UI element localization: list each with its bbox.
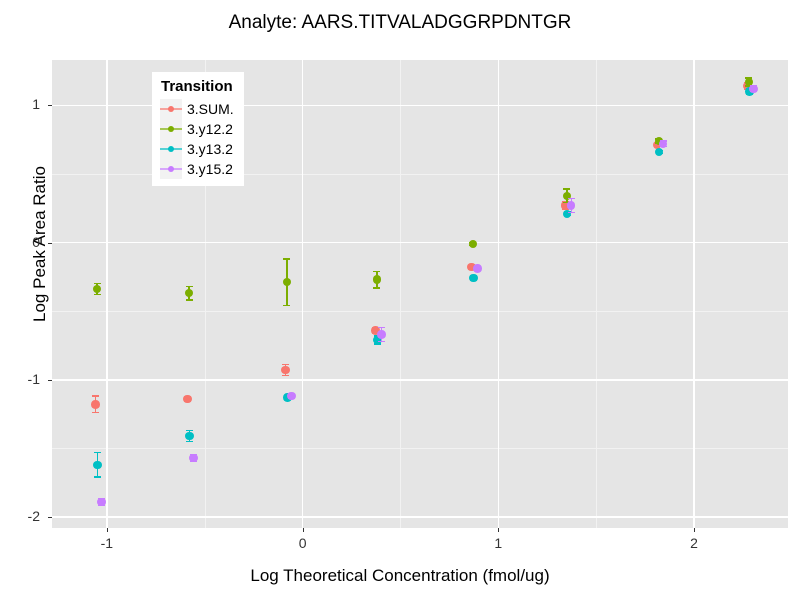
x-axis-tick	[498, 528, 499, 532]
data-point	[287, 392, 295, 400]
error-bar-cap-upper	[563, 188, 570, 190]
legend-item-3-y12-2[interactable]: 3.y12.2	[160, 119, 234, 139]
data-point	[283, 278, 291, 286]
error-bar-cap-upper	[94, 452, 101, 454]
error-bar-cap-lower	[282, 375, 289, 377]
legend-item-3-y15-2[interactable]: 3.y15.2	[160, 159, 234, 179]
x-axis-tick-label: 1	[478, 535, 518, 551]
x-axis-label: Log Theoretical Concentration (fmol/ug)	[0, 566, 800, 586]
x-axis-tick	[694, 528, 695, 532]
x-axis-tick-label: -1	[87, 535, 127, 551]
data-point	[473, 264, 481, 272]
data-point	[93, 285, 101, 293]
gridline-major-horizontal	[52, 516, 788, 518]
error-bar-cap-upper	[378, 327, 385, 329]
data-point	[377, 330, 385, 338]
gridline-minor-horizontal	[52, 311, 788, 312]
gridline-major-vertical	[693, 60, 695, 528]
data-point	[469, 240, 477, 248]
gridline-minor-vertical	[596, 60, 597, 528]
data-point	[91, 400, 99, 408]
error-bar-cap-upper	[568, 198, 575, 200]
error-bar-cap-upper	[283, 258, 290, 260]
legend-item-label: 3.y12.2	[187, 121, 233, 137]
legend-key-icon	[160, 139, 182, 159]
data-point	[183, 395, 191, 403]
gridline-major-vertical	[302, 60, 304, 528]
y-axis-tick	[48, 380, 52, 381]
error-bar-cap-lower	[92, 412, 99, 414]
error-bar-cap-lower	[94, 294, 101, 296]
x-axis-tick	[107, 528, 108, 532]
y-axis-tick	[48, 105, 52, 106]
legend-key-icon	[160, 119, 182, 139]
legend-item-3-sum-[interactable]: 3.SUM.	[160, 99, 234, 119]
legend-item-label: 3.SUM.	[187, 101, 234, 117]
error-bar-cap-lower	[373, 287, 380, 289]
error-bar-cap-lower	[568, 212, 575, 214]
gridline-minor-vertical	[400, 60, 401, 528]
y-axis-tick-label: 0	[0, 234, 40, 250]
legend-title: Transition	[161, 78, 234, 95]
y-axis-tick	[48, 517, 52, 518]
data-point	[97, 498, 105, 506]
error-bar-cap-upper	[186, 286, 193, 288]
error-bar-cap-upper	[373, 271, 380, 273]
data-point	[469, 274, 477, 282]
x-axis-tick	[303, 528, 304, 532]
y-axis-tick-label: -2	[0, 508, 40, 524]
error-bar-cap-lower	[186, 299, 193, 301]
legend-item-3-y13-2[interactable]: 3.y13.2	[160, 139, 234, 159]
y-axis-tick-label: 1	[0, 96, 40, 112]
data-point	[749, 85, 757, 93]
gridline-major-vertical	[106, 60, 108, 528]
error-bar-cap-lower	[378, 341, 385, 343]
data-point	[373, 275, 381, 283]
x-axis-tick-label: 2	[674, 535, 714, 551]
gridline-major-horizontal	[52, 379, 788, 381]
legend-key-icon	[160, 99, 182, 119]
error-bar-cap-lower	[283, 305, 290, 307]
y-axis-tick-label: -1	[0, 371, 40, 387]
data-point	[189, 454, 197, 462]
chart-title: Analyte: AARS.TITVALADGGRPDNTGR	[0, 12, 800, 34]
data-point	[185, 432, 193, 440]
legend-key-icon	[160, 159, 182, 179]
data-point	[655, 148, 663, 156]
y-axis-tick	[48, 243, 52, 244]
gridline-major-vertical	[498, 60, 500, 528]
data-point	[567, 201, 575, 209]
legend: Transition 3.SUM.3.y12.23.y13.23.y15.2	[152, 72, 244, 186]
gridline-major-horizontal	[52, 242, 788, 244]
data-point	[281, 366, 289, 374]
data-point	[185, 289, 193, 297]
error-bar-cap-lower	[94, 476, 101, 478]
error-bar-cap-upper	[92, 395, 99, 397]
chart-root: Analyte: AARS.TITVALADGGRPDNTGR Log Peak…	[0, 0, 800, 600]
legend-item-label: 3.y13.2	[187, 141, 233, 157]
x-axis-tick-label: 0	[283, 535, 323, 551]
gridline-minor-horizontal	[52, 448, 788, 449]
legend-items: 3.SUM.3.y12.23.y13.23.y15.2	[160, 99, 234, 179]
data-point	[93, 461, 101, 469]
legend-item-label: 3.y15.2	[187, 161, 233, 177]
error-bar-cap-lower	[186, 441, 193, 443]
